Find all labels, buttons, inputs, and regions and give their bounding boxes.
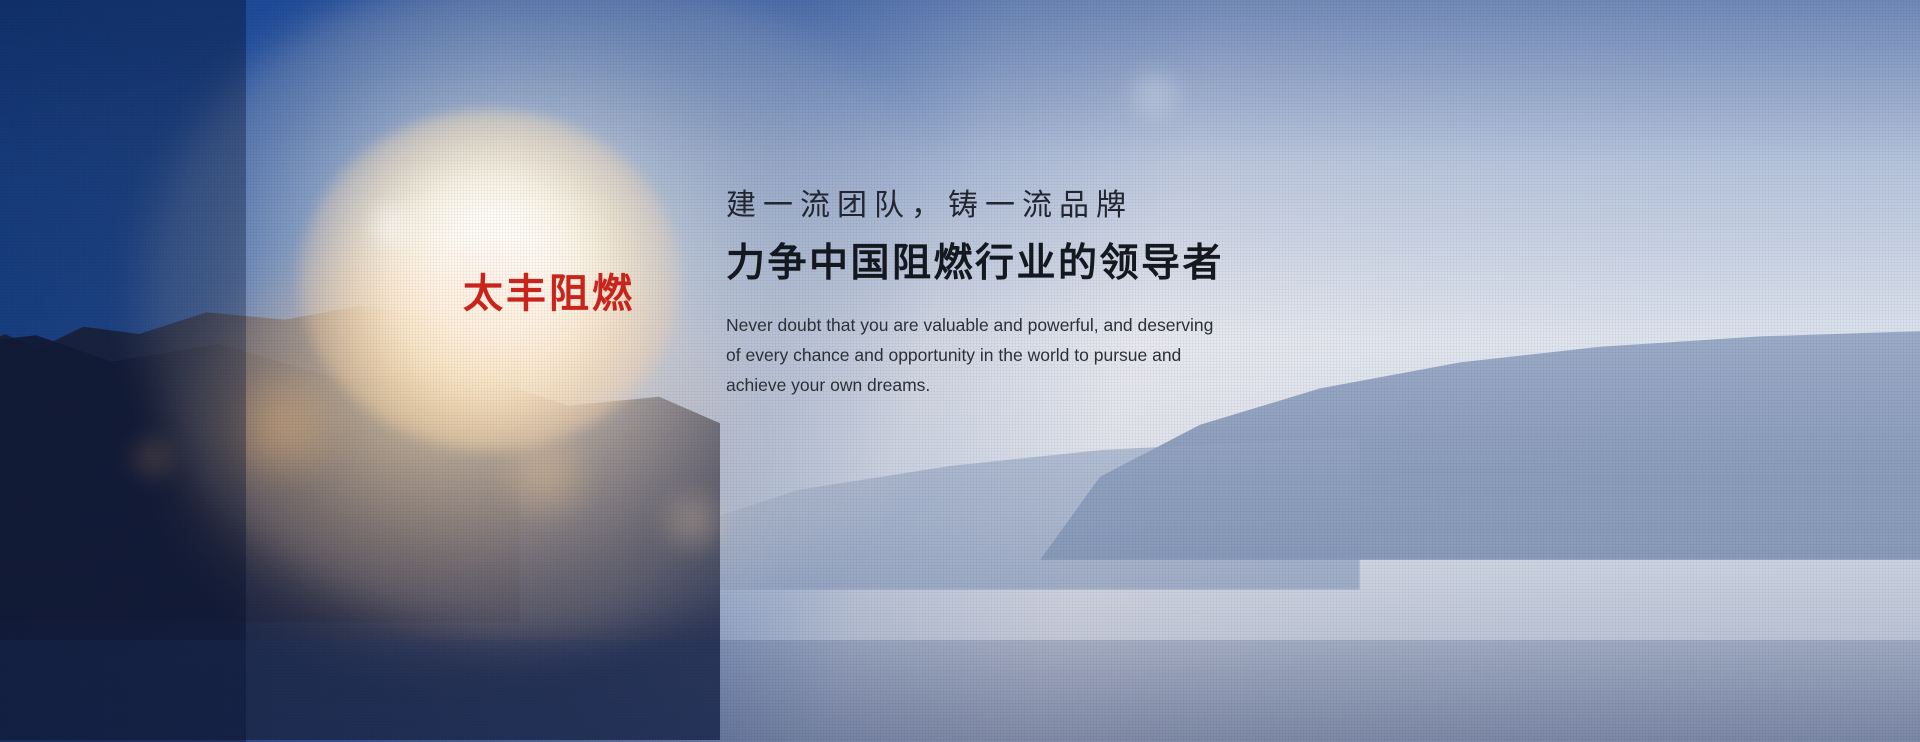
paragraph-line-2: of every chance and opportunity in the w…: [726, 340, 1326, 370]
hero-banner: <stop offset="0%" stop-color="#e8ecf3"/>…: [0, 0, 1920, 742]
headline-text-block: 建一流团队，铸一流品牌 力争中国阻燃行业的领导者 Never doubt tha…: [726, 186, 1326, 400]
paragraph-line-1: Never doubt that you are valuable and po…: [726, 310, 1326, 340]
banner-headline: 力争中国阻燃行业的领导者: [726, 240, 1326, 288]
brand-logo[interactable]: 太丰阻燃 <line x1="0" y1="5" x2="62" y2="5" …: [463, 272, 693, 341]
brand-logo-text: 太丰阻燃: [463, 272, 693, 316]
banner-paragraph: Never doubt that you are valuable and po…: [726, 310, 1326, 400]
arrow-right-icon: <line x1="0" y1="5" x2="62" y2="5" strok…: [557, 331, 629, 341]
paragraph-line-3: achieve your own dreams.: [726, 370, 1326, 400]
banner-content: 太丰阻燃 <line x1="0" y1="5" x2="62" y2="5" …: [0, 0, 1920, 742]
banner-subtitle: 建一流团队，铸一流品牌: [726, 186, 1326, 226]
